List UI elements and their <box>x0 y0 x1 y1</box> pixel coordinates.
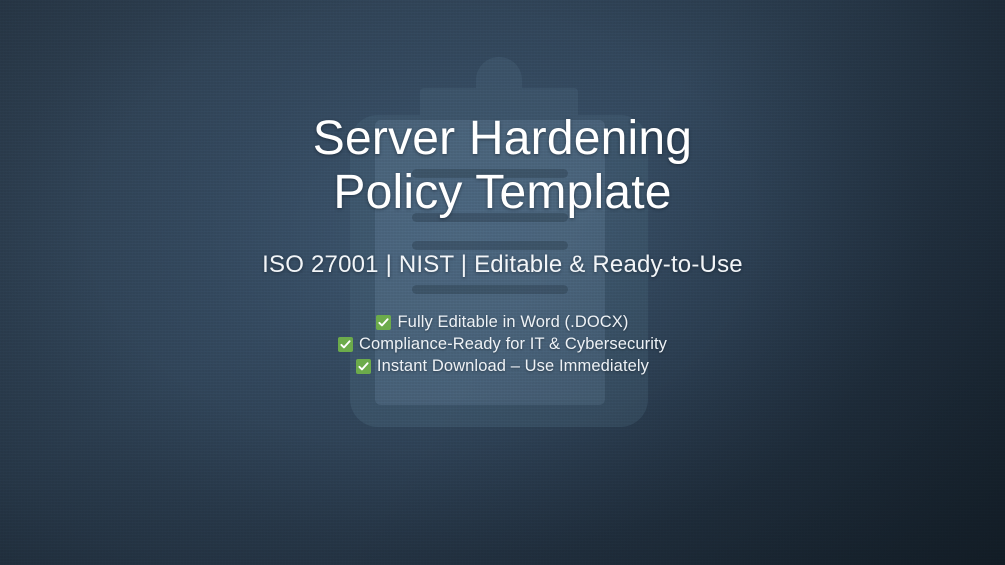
title-line-1: Server Hardening <box>313 112 692 166</box>
slide-canvas: Server Hardening Policy Template ISO 270… <box>0 0 1005 565</box>
list-item: Instant Download – Use Immediately <box>356 356 649 377</box>
green-check-icon <box>376 315 391 330</box>
list-item-label: Instant Download – Use Immediately <box>377 356 649 377</box>
list-item: Fully Editable in Word (.DOCX) <box>376 312 628 333</box>
list-item: Compliance-Ready for IT & Cybersecurity <box>338 334 667 355</box>
title-line-2: Policy Template <box>313 166 692 220</box>
list-item-label: Compliance-Ready for IT & Cybersecurity <box>359 334 667 355</box>
green-check-icon <box>356 359 371 374</box>
feature-bullet-list: Fully Editable in Word (.DOCX) Complianc… <box>338 312 667 377</box>
subtitle: ISO 27001 | NIST | Editable & Ready-to-U… <box>262 250 743 280</box>
green-check-icon <box>338 337 353 352</box>
page-title: Server Hardening Policy Template <box>313 112 692 220</box>
slide-content: Server Hardening Policy Template ISO 270… <box>0 0 1005 565</box>
list-item-label: Fully Editable in Word (.DOCX) <box>397 312 628 333</box>
